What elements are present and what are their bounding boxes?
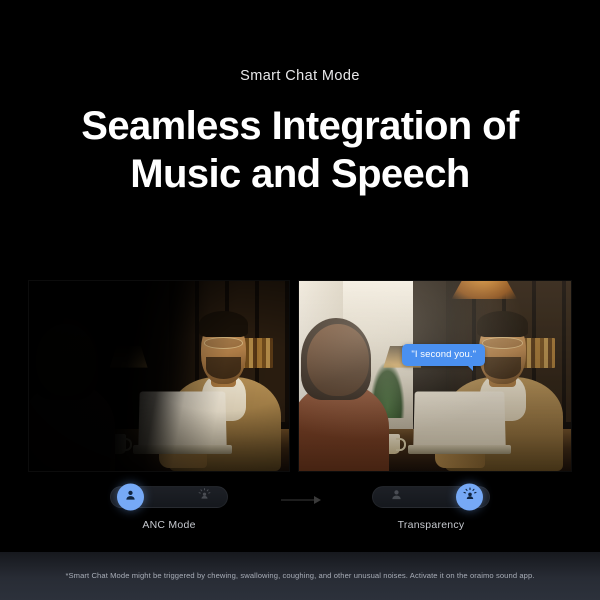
- laptop: [133, 391, 232, 459]
- anc-head-icon: [123, 487, 138, 507]
- foreground-listener: [29, 311, 115, 471]
- mode-controls: ANC Mode: [0, 486, 600, 538]
- person-hair: [477, 311, 528, 338]
- transparency-head-icon: [197, 487, 212, 507]
- laptop-keyboard: [133, 445, 232, 455]
- laptop-screen: [413, 392, 505, 448]
- person-beard: [206, 357, 241, 379]
- laptop: [408, 391, 511, 459]
- anc-mode-toggle[interactable]: [110, 486, 228, 508]
- anc-toggle-knob-active[interactable]: [117, 484, 144, 511]
- eyeglasses-icon: [482, 337, 523, 349]
- person-hair: [199, 311, 248, 338]
- speech-bubble: "I second you.": [402, 344, 485, 366]
- arrow-right-icon: [281, 493, 321, 503]
- laptop-keyboard: [408, 445, 511, 455]
- transparency-mode-toggle[interactable]: [372, 486, 490, 508]
- anc-mode-label: ANC Mode: [84, 519, 254, 531]
- headline-line-2: Music and Speech: [0, 151, 600, 198]
- scene-anc: [29, 281, 289, 471]
- listener-head: [36, 324, 96, 396]
- panel-transparency-mode: "I second you.": [298, 280, 572, 472]
- control-group-transparency: Transparency: [346, 486, 516, 531]
- ceiling-lamp: [451, 281, 517, 299]
- foreground-speaker: [299, 311, 389, 471]
- footnote-band: *Smart Chat Mode might be triggered by c…: [0, 552, 600, 600]
- anc-toggle-slot-right: [193, 486, 215, 508]
- transparency-head-icon: [462, 487, 478, 508]
- transparency-toggle-knob-active[interactable]: [456, 484, 483, 511]
- person-beard: [484, 357, 520, 379]
- speaker-head: [307, 324, 370, 396]
- anc-head-icon: [389, 487, 404, 507]
- footnote-text: *Smart Chat Mode might be triggered by c…: [39, 571, 560, 582]
- scene-transparency: "I second you.": [299, 281, 571, 471]
- panel-anc-mode: [28, 280, 290, 472]
- control-group-anc: ANC Mode: [84, 486, 254, 531]
- page-title: Seamless Integration of Music and Speech: [0, 103, 600, 197]
- headline-line-1: Seamless Integration of: [0, 103, 600, 150]
- header: Smart Chat Mode Seamless Integration of …: [0, 0, 600, 198]
- comparison-panels: "I second you.": [28, 280, 572, 472]
- eyeglasses-icon: [204, 337, 243, 349]
- transparency-toggle-slot-left: [385, 486, 407, 508]
- transparency-mode-label: Transparency: [346, 519, 516, 531]
- eyebrow-text: Smart Chat Mode: [0, 68, 600, 85]
- laptop-screen: [138, 392, 226, 448]
